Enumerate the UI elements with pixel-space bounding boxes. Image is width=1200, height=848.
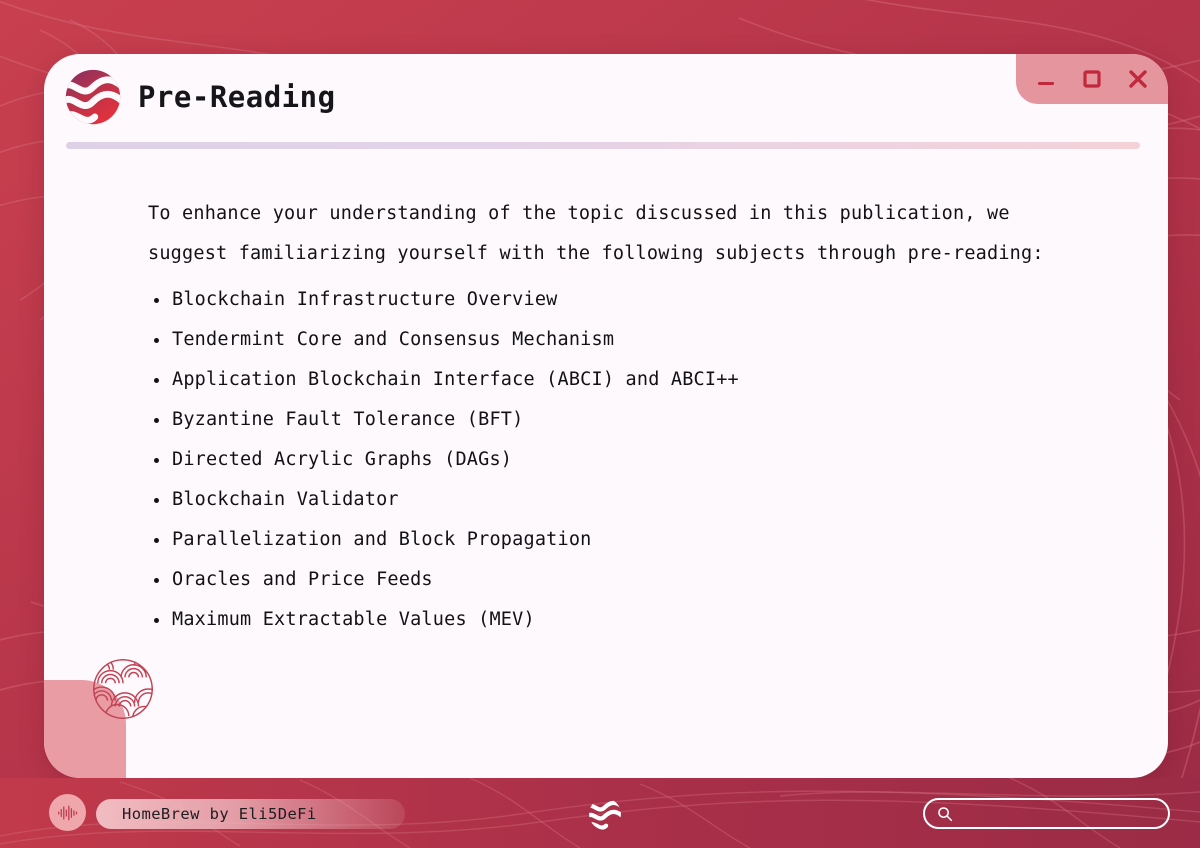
list-item: Directed Acrylic Graphs (DAGs) bbox=[148, 440, 1098, 480]
maximize-button[interactable] bbox=[1079, 66, 1105, 92]
list-item: Blockchain Validator bbox=[148, 480, 1098, 520]
title-divider bbox=[66, 142, 1140, 149]
window-titlebar: Pre-Reading bbox=[44, 54, 1168, 142]
search-icon bbox=[937, 806, 953, 822]
brand-pill[interactable]: HomeBrew by Eli5DeFi bbox=[96, 799, 405, 829]
wave-pattern-circle-ornament-icon bbox=[92, 658, 154, 720]
minimize-button[interactable] bbox=[1033, 66, 1059, 92]
footer-wave-circle-logo-icon[interactable] bbox=[588, 797, 622, 831]
maximize-icon bbox=[1079, 66, 1105, 92]
minimize-icon bbox=[1033, 66, 1059, 92]
brand-label: HomeBrew by Eli5DeFi bbox=[122, 805, 317, 823]
wave-circle-logo-icon bbox=[64, 68, 122, 126]
list-item: Blockchain Infrastructure Overview bbox=[148, 280, 1098, 320]
list-item: Parallelization and Block Propagation bbox=[148, 520, 1098, 560]
list-item: Application Blockchain Interface (ABCI) … bbox=[148, 360, 1098, 400]
search-box[interactable] bbox=[923, 798, 1170, 829]
main-card: Pre-Reading To enhance your understandin… bbox=[44, 54, 1168, 778]
audio-player-badge[interactable] bbox=[49, 794, 86, 831]
close-icon bbox=[1125, 66, 1151, 92]
list-item: Tendermint Core and Consensus Mechanism bbox=[148, 320, 1098, 360]
search-input[interactable] bbox=[953, 800, 1168, 827]
list-item: Maximum Extractable Values (MEV) bbox=[148, 600, 1098, 640]
topic-list: Blockchain Infrastructure Overview Tende… bbox=[148, 280, 1098, 640]
content-area: To enhance your understanding of the top… bbox=[148, 194, 1098, 640]
close-button[interactable] bbox=[1125, 66, 1151, 92]
intro-paragraph: To enhance your understanding of the top… bbox=[148, 194, 1098, 274]
page-title: Pre-Reading bbox=[138, 80, 336, 114]
list-item: Oracles and Price Feeds bbox=[148, 560, 1098, 600]
audio-waveform-icon bbox=[57, 804, 79, 822]
window-controls bbox=[1016, 54, 1168, 104]
list-item: Byzantine Fault Tolerance (BFT) bbox=[148, 400, 1098, 440]
